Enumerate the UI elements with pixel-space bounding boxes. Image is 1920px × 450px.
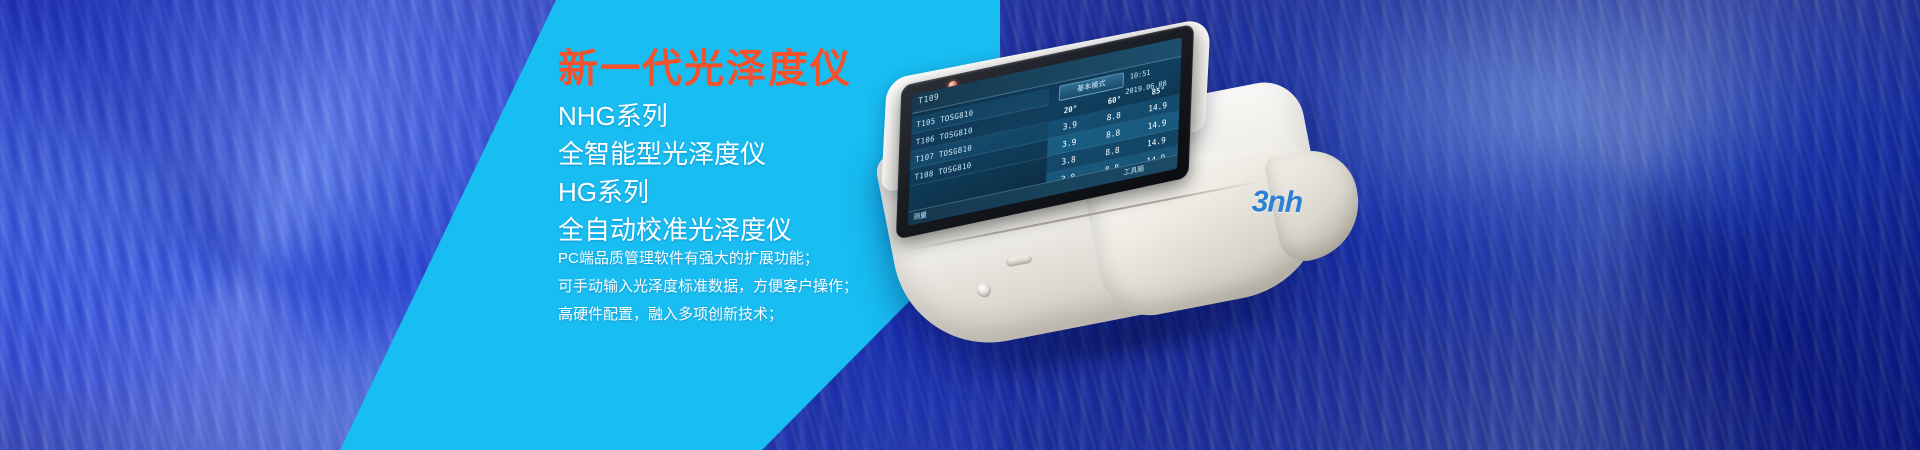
feature-line-1: PC端品质管理软件有强大的扩展功能； [558, 245, 1028, 273]
feature-line-3: 高硬件配置，融入多项创新技术； [558, 301, 1028, 329]
brand-logo: 3nh [1251, 185, 1302, 220]
subheading-nhg-desc: 全智能型光泽度仪 [558, 135, 1018, 173]
subheading-hg-desc: 全自动校准光泽度仪 [558, 211, 1018, 249]
subheading-nhg-series: NHG系列 [558, 97, 1018, 135]
feature-line-2: 可手动输入光泽度标准数据，方便客户操作； [558, 273, 1028, 301]
page-title: 新一代光泽度仪 [558, 47, 852, 91]
subheading-hg-series: HG系列 [558, 173, 1018, 211]
banner-copy: 新一代光泽度仪 NHG系列 全智能型光泽度仪 HG系列 全自动校准光泽度仪 PC… [558, 0, 1018, 450]
product-banner: T109 基本模式 10:51 2019.06.08 T105 TOSG810 … [0, 0, 1920, 450]
screen-time: 10:51 [1130, 68, 1151, 81]
